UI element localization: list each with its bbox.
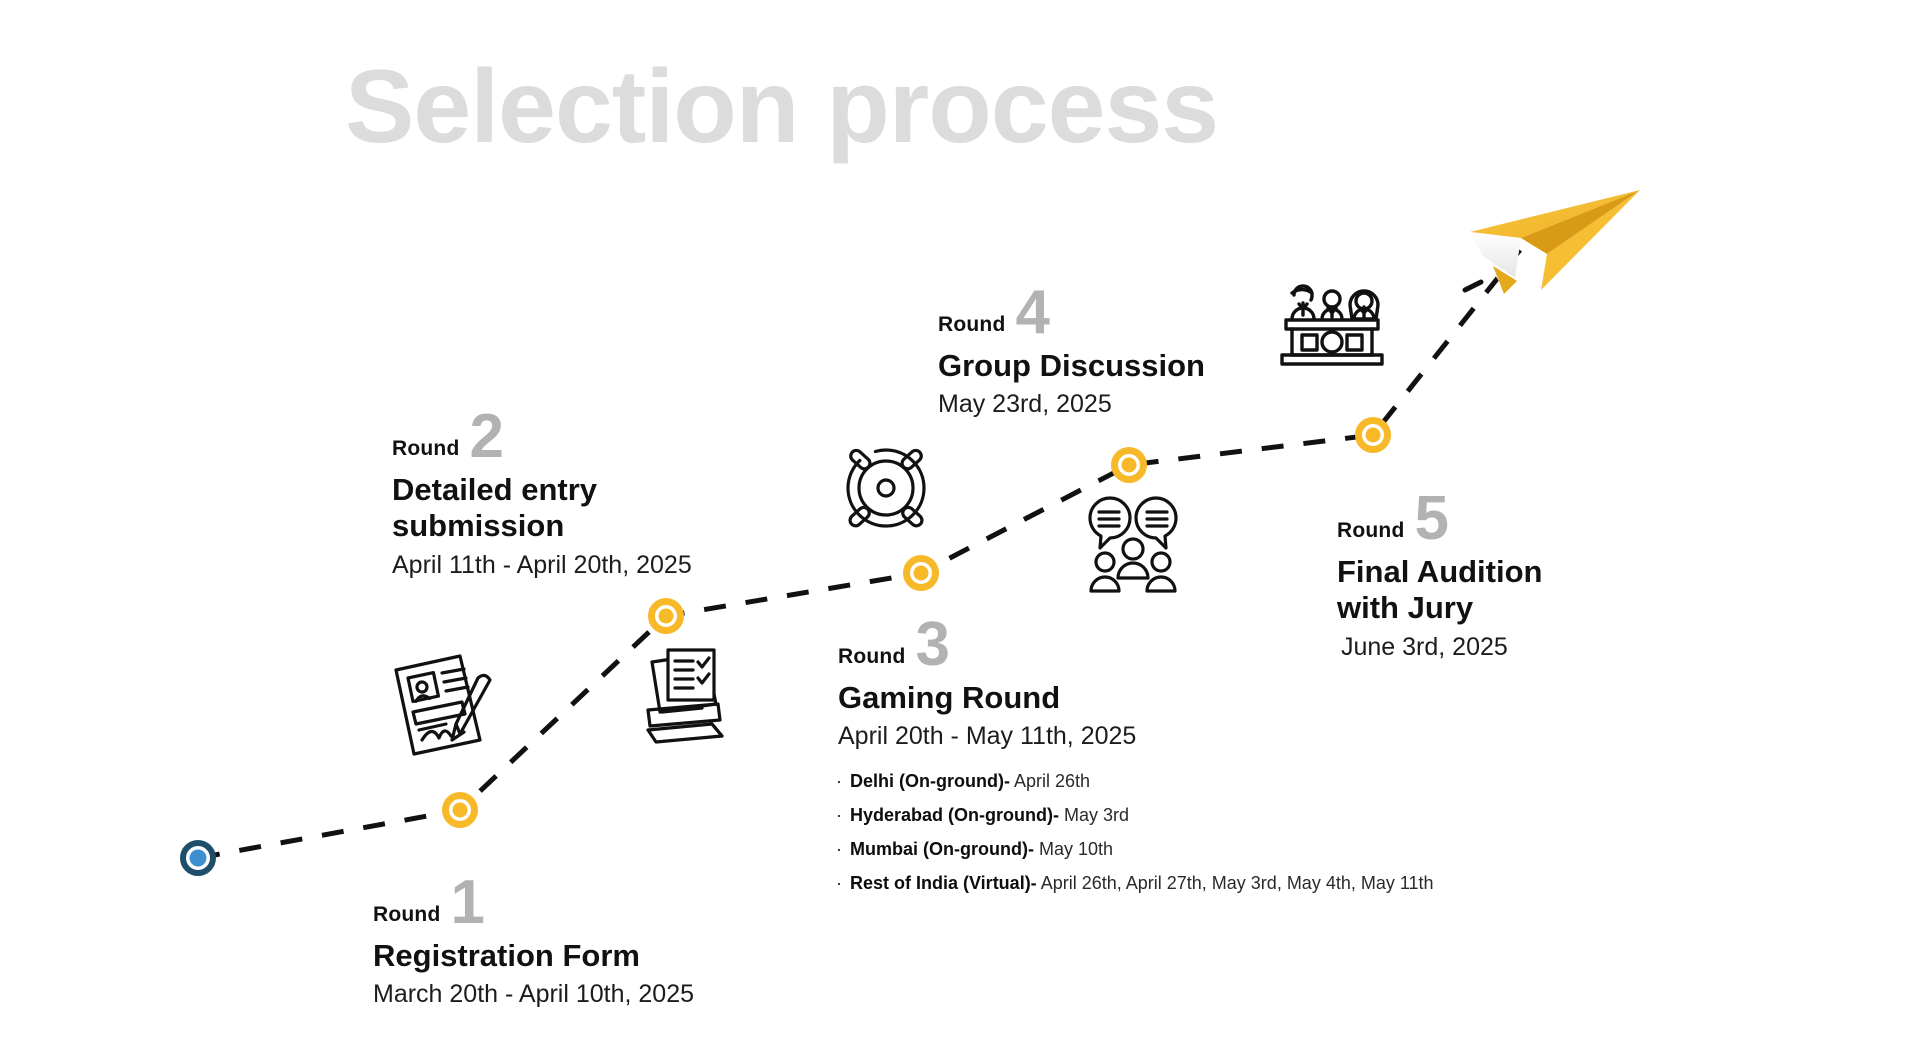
round-5-date: June 3rd, 2025: [1341, 633, 1542, 662]
location-name: Delhi (On-ground)-: [850, 771, 1010, 791]
round-4-date: May 23rd, 2025: [938, 390, 1205, 419]
round-2-title: Detailed entry submission: [392, 472, 692, 545]
round-5-title: Final Audition with Jury: [1337, 554, 1542, 627]
list-item: ·Delhi (On-ground)- April 26th: [836, 772, 1434, 790]
timeline-milestone-node-3[interactable]: [903, 555, 939, 591]
round-1-date: March 20th - April 10th, 2025: [373, 980, 694, 1009]
checklist-document-icon: [638, 648, 732, 758]
list-item: ·Mumbai (On-ground)- May 10th: [836, 840, 1434, 858]
slide-canvas: Selection process: [0, 0, 1920, 1045]
round-4-label: Round: [938, 314, 1005, 339]
round-3-date: April 20th - May 11th, 2025: [838, 722, 1136, 751]
registration-form-icon: [386, 648, 492, 764]
round-1-title: Registration Form: [373, 938, 694, 975]
round-2-date: April 11th - April 20th, 2025: [392, 551, 692, 580]
bullet-dot: ·: [836, 874, 850, 892]
gaming-round-locations-list: ·Delhi (On-ground)- April 26th ·Hyderaba…: [836, 772, 1434, 908]
list-item: ·Hyderabad (On-ground)- May 3rd: [836, 806, 1434, 824]
list-item: ·Rest of India (Virtual)- April 26th, Ap…: [836, 874, 1434, 892]
round-3-title: Gaming Round: [838, 680, 1136, 717]
round-1-heading: Round 1: [373, 878, 694, 929]
jury-panel-icon: [1278, 275, 1386, 373]
timeline-milestone-node-2[interactable]: [648, 598, 684, 634]
location-dates: April 26th, April 27th, May 3rd, May 4th…: [1037, 873, 1434, 893]
round-block-5: Round 5 Final Audition with Jury June 3r…: [1337, 494, 1542, 662]
location-dates: May 10th: [1034, 839, 1113, 859]
round-2-number: 2: [469, 412, 502, 463]
round-4-number: 4: [1015, 288, 1048, 339]
target-crosshair-icon: [838, 440, 934, 536]
round-block-4: Round 4 Group Discussion May 23rd, 2025: [938, 288, 1205, 419]
paper-plane-icon: [1455, 182, 1655, 302]
round-block-1: Round 1 Registration Form March 20th - A…: [373, 878, 694, 1009]
round-3-heading: Round 3: [838, 620, 1136, 671]
round-2-label: Round: [392, 438, 459, 463]
group-discussion-icon: [1078, 492, 1188, 602]
bullet-dot: ·: [836, 806, 850, 824]
location-name: Hyderabad (On-ground)-: [850, 805, 1059, 825]
page-title: Selection process: [345, 48, 1218, 168]
round-3-number: 3: [915, 620, 948, 671]
timeline-milestone-node-1[interactable]: [442, 792, 478, 828]
round-5-heading: Round 5: [1337, 494, 1542, 545]
round-1-label: Round: [373, 904, 440, 929]
round-5-number: 5: [1414, 494, 1447, 545]
location-name: Mumbai (On-ground)-: [850, 839, 1034, 859]
timeline-milestone-node-4[interactable]: [1111, 447, 1147, 483]
bullet-dot: ·: [836, 840, 850, 858]
round-4-heading: Round 4: [938, 288, 1205, 339]
round-5-label: Round: [1337, 520, 1404, 545]
location-dates: April 26th: [1010, 771, 1090, 791]
timeline-milestone-node-5[interactable]: [1355, 417, 1391, 453]
round-1-number: 1: [450, 878, 483, 929]
location-name: Rest of India (Virtual)-: [850, 873, 1037, 893]
round-block-3: Round 3 Gaming Round April 20th - May 11…: [838, 620, 1136, 751]
round-block-2: Round 2 Detailed entry submission April …: [392, 412, 692, 580]
round-3-label: Round: [838, 646, 905, 671]
round-4-title: Group Discussion: [938, 348, 1205, 385]
timeline-start-node[interactable]: [180, 840, 216, 876]
round-2-heading: Round 2: [392, 412, 692, 463]
bullet-dot: ·: [836, 772, 850, 790]
location-dates: May 3rd: [1059, 805, 1129, 825]
